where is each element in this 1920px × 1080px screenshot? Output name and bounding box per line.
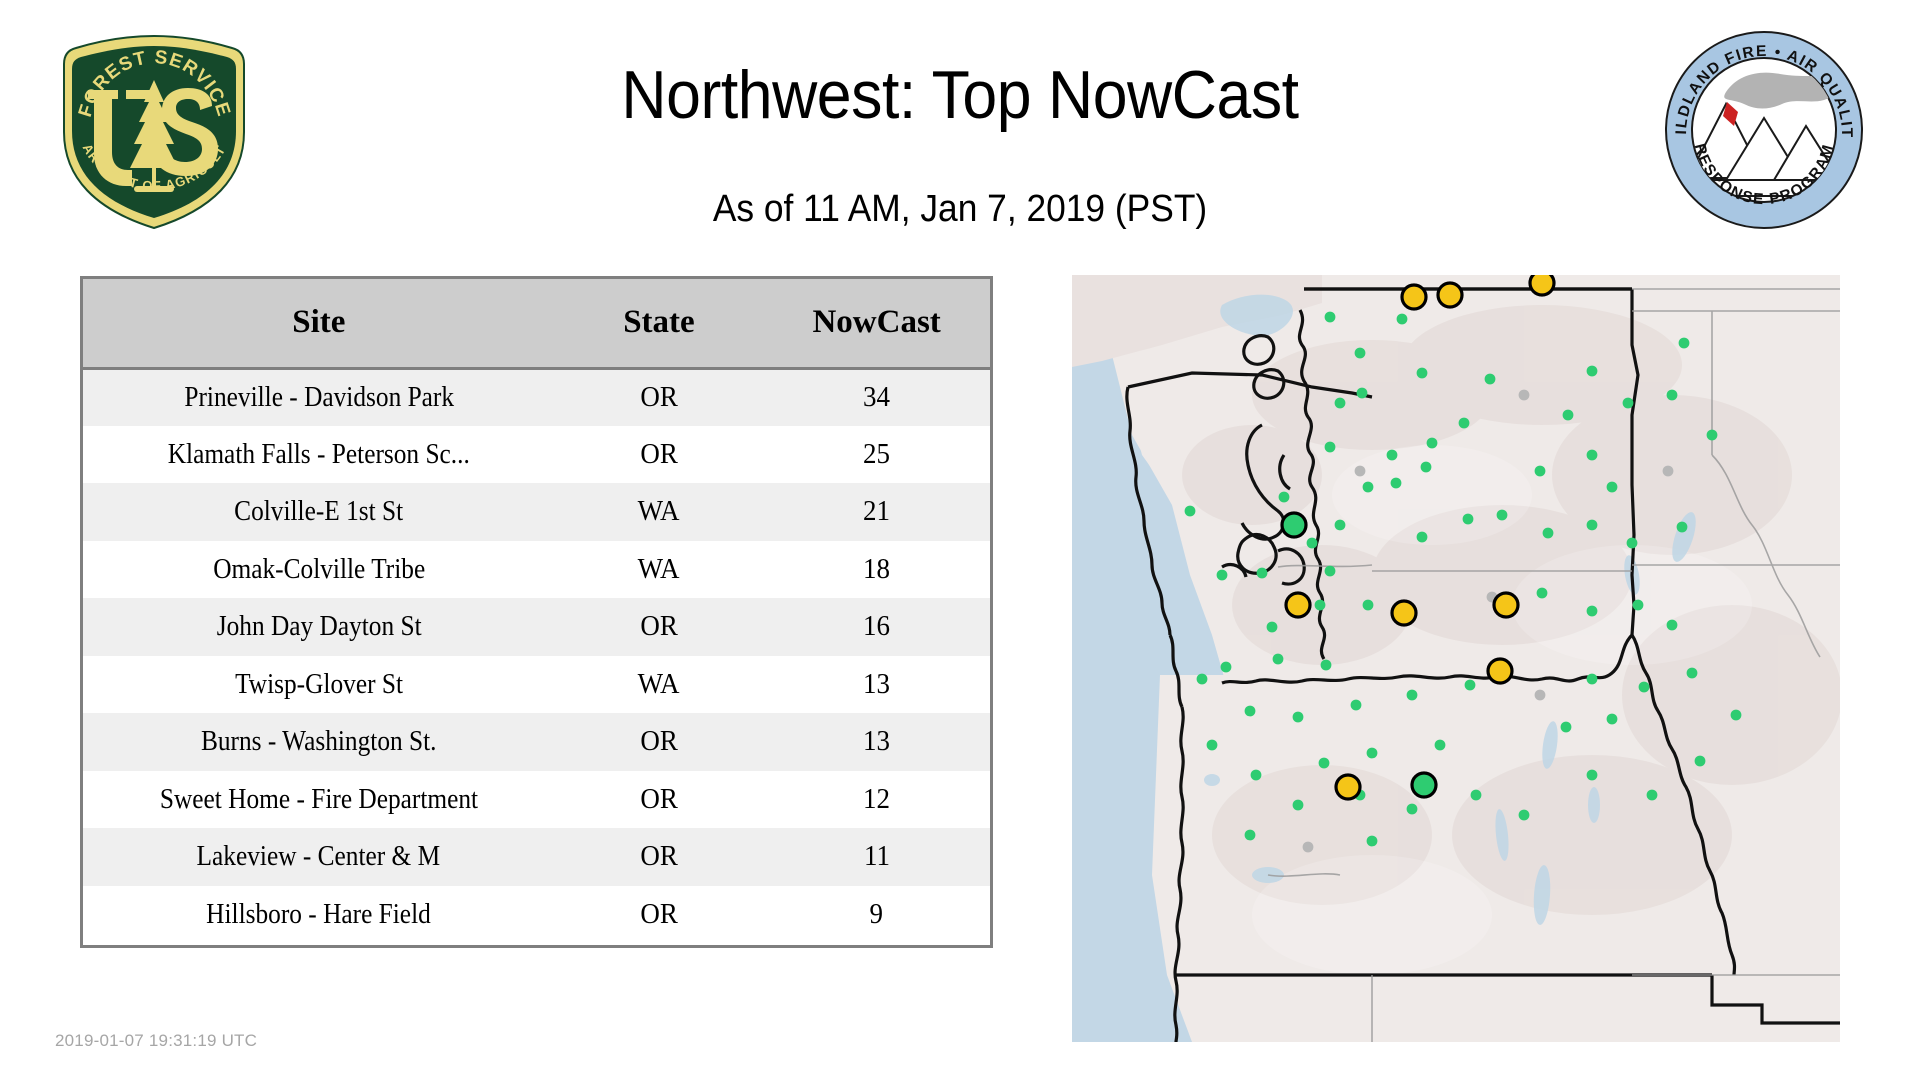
map-marker-small[interactable] <box>1463 514 1474 525</box>
map-marker-small[interactable] <box>1427 438 1438 449</box>
map-marker-small[interactable] <box>1391 478 1402 489</box>
map-marker-highlighted[interactable] <box>1336 775 1360 799</box>
map-marker-small[interactable] <box>1363 600 1374 611</box>
table-row[interactable]: Omak-Colville TribeWA18 <box>83 541 990 599</box>
cell-state: OR <box>555 713 764 771</box>
map-marker-small[interactable] <box>1319 758 1330 769</box>
cell-nowcast: 34 <box>763 368 990 426</box>
map-marker-small[interactable] <box>1355 348 1366 359</box>
cell-nowcast: 25 <box>763 426 990 484</box>
map-marker-small[interactable] <box>1561 722 1572 733</box>
map-marker-small[interactable] <box>1245 706 1256 717</box>
top-nowcast-table: Site State NowCast Prineville - Davidson… <box>83 279 990 943</box>
map-marker-small[interactable] <box>1731 710 1742 721</box>
map-marker-highlighted[interactable] <box>1494 593 1518 617</box>
table-row[interactable]: Prineville - Davidson ParkOR34 <box>83 368 990 426</box>
cell-site: Klamath Falls - Peterson Sc... <box>97 426 540 484</box>
map-marker-small[interactable] <box>1325 312 1336 323</box>
map-marker-small[interactable] <box>1351 700 1362 711</box>
map-marker-small[interactable] <box>1535 466 1546 477</box>
map-marker-small[interactable] <box>1407 804 1418 815</box>
map-marker-small[interactable] <box>1647 790 1658 801</box>
map-marker-small[interactable] <box>1421 462 1432 473</box>
page-title: Northwest: Top NowCast <box>353 60 1567 131</box>
table-row[interactable]: Burns - Washington St.OR13 <box>83 713 990 771</box>
map-marker-small[interactable] <box>1307 538 1318 549</box>
map-marker-small[interactable] <box>1639 682 1650 693</box>
cell-nowcast: 13 <box>763 656 990 714</box>
map-marker-small[interactable] <box>1251 770 1262 781</box>
map-marker-small[interactable] <box>1497 510 1508 521</box>
map-marker-small[interactable] <box>1321 660 1332 671</box>
map-marker-small[interactable] <box>1325 442 1336 453</box>
cell-state: OR <box>555 598 764 656</box>
table-row[interactable]: Twisp-Glover StWA13 <box>83 656 990 714</box>
map-marker-small[interactable] <box>1707 430 1718 441</box>
map-marker-small[interactable] <box>1407 690 1418 701</box>
map-marker-highlighted[interactable] <box>1438 283 1462 307</box>
map-marker-small[interactable] <box>1367 836 1378 847</box>
map-marker-highlighted[interactable] <box>1530 275 1554 295</box>
map-marker-small[interactable] <box>1363 482 1374 493</box>
map-marker-small[interactable] <box>1587 366 1598 377</box>
map-marker-small[interactable] <box>1367 748 1378 759</box>
map-marker-small[interactable] <box>1519 810 1530 821</box>
map-marker-small[interactable] <box>1667 620 1678 631</box>
map-marker-small[interactable] <box>1679 338 1690 349</box>
map-marker-small[interactable] <box>1221 662 1232 673</box>
wildland-fire-air-quality-seal-logo: WILDLAND FIRE • AIR QUALITY RESPONSE PRO… <box>1664 30 1864 230</box>
map-marker-highlighted[interactable] <box>1282 513 1306 537</box>
cell-nowcast: 12 <box>763 771 990 829</box>
column-header-site[interactable]: Site <box>83 279 555 368</box>
map-marker-small[interactable] <box>1587 450 1598 461</box>
top-nowcast-table-panel: Site State NowCast Prineville - Davidson… <box>80 276 993 948</box>
column-header-state[interactable]: State <box>555 279 764 368</box>
map-marker-small[interactable] <box>1587 770 1598 781</box>
map-marker-small[interactable] <box>1417 368 1428 379</box>
cell-site: Twisp-Glover St <box>97 656 540 714</box>
table-row[interactable]: John Day Dayton StOR16 <box>83 598 990 656</box>
cell-nowcast: 9 <box>763 886 990 944</box>
map-marker-small[interactable] <box>1471 790 1482 801</box>
map-marker-small[interactable] <box>1667 390 1678 401</box>
cell-site: Colville-E 1st St <box>97 483 540 541</box>
cell-site: Hillsboro - Hare Field <box>97 886 540 944</box>
map-marker-small[interactable] <box>1587 520 1598 531</box>
cell-nowcast: 18 <box>763 541 990 599</box>
map-marker-small[interactable] <box>1303 842 1314 853</box>
map-marker-small[interactable] <box>1535 690 1546 701</box>
cell-state: WA <box>555 656 764 714</box>
generated-timestamp: 2019-01-07 19:31:19 UTC <box>55 1031 257 1051</box>
cell-state: OR <box>555 426 764 484</box>
table-row[interactable]: Klamath Falls - Peterson Sc...OR25 <box>83 426 990 484</box>
map-marker-small[interactable] <box>1537 588 1548 599</box>
page-subtitle: As of 11 AM, Jan 7, 2019 (PST) <box>346 188 1574 231</box>
map-marker-small[interactable] <box>1435 740 1446 751</box>
map-marker-small[interactable] <box>1459 418 1470 429</box>
cell-state: OR <box>555 368 764 426</box>
cell-site: Sweet Home - Fire Department <box>97 771 540 829</box>
cell-site: Lakeview - Center & M <box>97 828 540 886</box>
map-marker-small[interactable] <box>1245 830 1256 841</box>
map-marker-small[interactable] <box>1627 538 1638 549</box>
map-marker-small[interactable] <box>1677 522 1688 533</box>
map-marker-small[interactable] <box>1623 398 1634 409</box>
map-marker-small[interactable] <box>1687 668 1698 679</box>
cell-state: OR <box>555 828 764 886</box>
cell-state: WA <box>555 483 764 541</box>
map-marker-small[interactable] <box>1485 374 1496 385</box>
map-marker-highlighted[interactable] <box>1392 601 1416 625</box>
map-marker-small[interactable] <box>1335 398 1346 409</box>
cell-site: Omak-Colville Tribe <box>97 541 540 599</box>
nowcast-map[interactable] <box>1072 275 1840 1042</box>
cell-site: John Day Dayton St <box>97 598 540 656</box>
table-row[interactable]: Colville-E 1st StWA21 <box>83 483 990 541</box>
map-marker-small[interactable] <box>1279 492 1290 503</box>
map-marker-highlighted[interactable] <box>1286 593 1310 617</box>
table-row[interactable]: Sweet Home - Fire DepartmentOR12 <box>83 771 990 829</box>
map-marker-highlighted[interactable] <box>1412 773 1436 797</box>
map-marker-small[interactable] <box>1695 756 1706 767</box>
map-marker-small[interactable] <box>1543 528 1554 539</box>
us-forest-service-shield-logo: FOREST SERVICE DEPARTMENT OF AGRICULTURE <box>52 28 257 233</box>
map-marker-small[interactable] <box>1335 520 1346 531</box>
map-marker-small[interactable] <box>1387 450 1398 461</box>
map-marker-small[interactable] <box>1197 674 1208 685</box>
map-marker-small[interactable] <box>1397 314 1408 325</box>
map-marker-small[interactable] <box>1185 506 1196 517</box>
cell-site: Prineville - Davidson Park <box>97 368 540 426</box>
cell-state: OR <box>555 886 764 944</box>
map-marker-highlighted[interactable] <box>1488 659 1512 683</box>
map-marker-small[interactable] <box>1207 740 1218 751</box>
map-marker-small[interactable] <box>1217 570 1228 581</box>
cell-nowcast: 11 <box>763 828 990 886</box>
map-marker-small[interactable] <box>1663 466 1674 477</box>
map-marker-small[interactable] <box>1587 606 1598 617</box>
map-marker-small[interactable] <box>1325 566 1336 577</box>
map-marker-small[interactable] <box>1607 714 1618 725</box>
table-header-row: Site State NowCast <box>83 279 990 368</box>
map-marker-highlighted[interactable] <box>1402 285 1426 309</box>
map-marker-small[interactable] <box>1587 674 1598 685</box>
map-marker-small[interactable] <box>1607 482 1618 493</box>
map-marker-small[interactable] <box>1293 800 1304 811</box>
cell-state: WA <box>555 541 764 599</box>
map-marker-small[interactable] <box>1465 680 1476 691</box>
cell-nowcast: 21 <box>763 483 990 541</box>
map-marker-small[interactable] <box>1293 712 1304 723</box>
map-marker-small[interactable] <box>1519 390 1530 401</box>
column-header-nowcast[interactable]: NowCast <box>763 279 990 368</box>
table-row[interactable]: Lakeview - Center & MOR11 <box>83 828 990 886</box>
cell-nowcast: 13 <box>763 713 990 771</box>
cell-nowcast: 16 <box>763 598 990 656</box>
map-marker-small[interactable] <box>1315 600 1326 611</box>
map-marker-small[interactable] <box>1563 410 1574 421</box>
cell-state: OR <box>555 771 764 829</box>
map-marker-small[interactable] <box>1357 388 1368 399</box>
map-marker-small[interactable] <box>1273 654 1284 665</box>
map-marker-small[interactable] <box>1355 466 1366 477</box>
cell-site: Burns - Washington St. <box>97 713 540 771</box>
table-row[interactable]: Hillsboro - Hare FieldOR9 <box>83 886 990 944</box>
map-marker-small[interactable] <box>1633 600 1644 611</box>
map-marker-small[interactable] <box>1417 532 1428 543</box>
slide-root: FOREST SERVICE DEPARTMENT OF AGRICULTURE <box>0 0 1920 1080</box>
map-marker-small[interactable] <box>1267 622 1278 633</box>
map-marker-small[interactable] <box>1257 568 1268 579</box>
